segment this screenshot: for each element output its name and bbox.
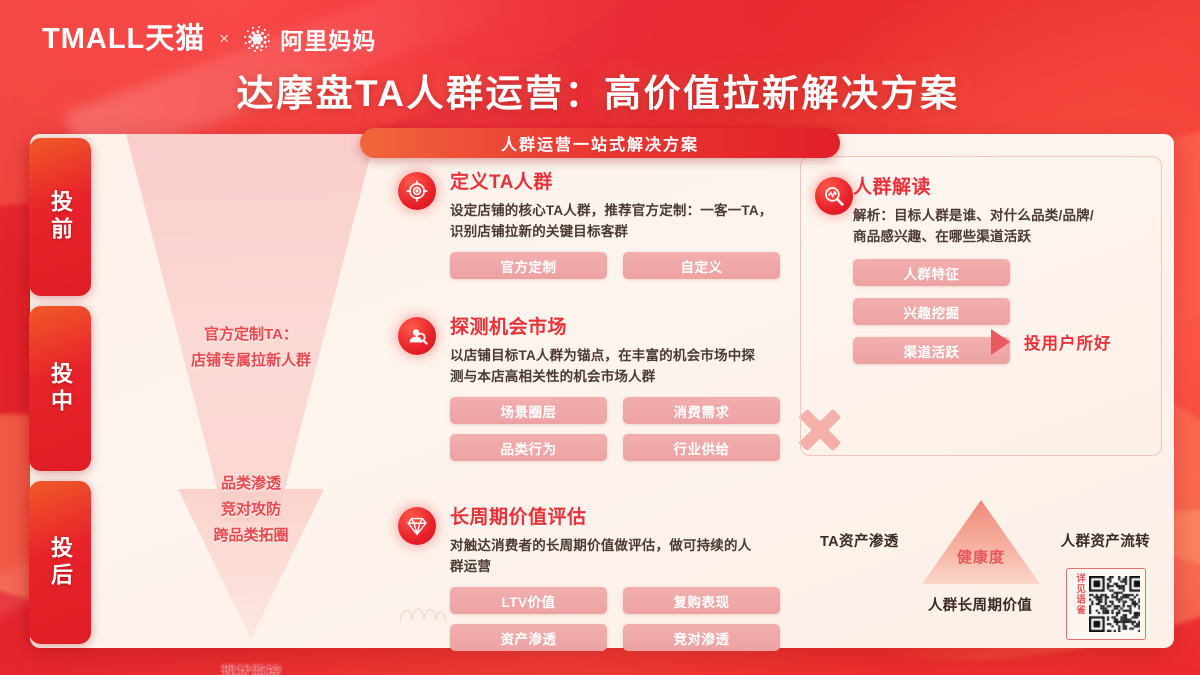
target-crosshair-icon xyxy=(398,172,436,210)
tag-consumption-demand[interactable]: 消费需求 xyxy=(623,397,780,424)
funnel-label-stage2-line1: 品类渗透 xyxy=(126,471,376,497)
alimama-logo-text: 阿里妈妈 xyxy=(280,22,376,56)
card-audience-insight-tags: 人群特征 兴趣挖掘 渠道活跃 xyxy=(853,259,1010,364)
audience-search-icon xyxy=(398,317,436,355)
qr-code-box[interactable]: 详见语雀 xyxy=(1066,568,1146,640)
play-triangle-icon xyxy=(991,329,1010,355)
health-left-label: TA资产渗透 xyxy=(820,530,899,551)
card-explore-market-desc-line1: 以店铺目标TA人群为锚点，在丰富的机会市场中探 xyxy=(450,345,788,366)
solution-banner-label: 人群运营一站式解决方案 xyxy=(501,131,699,155)
page-title: 达摩盘TA人群运营：高价值拉新解决方案 xyxy=(0,63,1200,117)
card-explore-market-desc-line2: 测与本店高相关性的机会市场人群 xyxy=(450,366,788,387)
card-audience-insight-desc-line2: 商品感兴趣、在哪些渠道活跃 xyxy=(853,226,1153,247)
card-explore-market-desc: 以店铺目标TA人群为锚点，在丰富的机会市场中探 测与本店高相关性的机会市场人群 xyxy=(450,345,788,387)
tag-asset-penetration[interactable]: 资产渗透 xyxy=(450,624,607,651)
health-bottom-label: 人群长周期价值 xyxy=(928,594,1032,615)
audience-insight-panel: 人群解读 解析：目标人群是谁、对什么品类/品牌/ 商品感兴趣、在哪些渠道活跃 人… xyxy=(800,156,1162,456)
tmall-logo: TMALL天猫 xyxy=(42,25,205,54)
card-define-ta-title: 定义TA人群 xyxy=(450,170,788,196)
tag-scene-layer[interactable]: 场景圈层 xyxy=(450,397,607,424)
decorative-flourish-icon xyxy=(396,600,450,626)
funnel-label-stage3-line1: 现状监控 xyxy=(126,659,376,675)
alimama-mark-icon xyxy=(243,25,271,53)
user-preference-callout: 投用户所好 xyxy=(991,329,1112,355)
card-explore-market-tags: 场景圈层 消费需求 品类行为 行业供给 xyxy=(450,397,780,461)
card-explore-market-title: 探测机会市场 xyxy=(450,315,788,341)
card-define-ta[interactable]: 定义TA人群 设定店铺的核心TA人群，推荐官方定制：一客一TA， 识别店铺拉新的… xyxy=(398,170,788,279)
tag-self-defined[interactable]: 自定义 xyxy=(623,252,780,279)
diamond-icon xyxy=(398,507,436,545)
tag-audience-profile[interactable]: 人群特征 xyxy=(853,259,1010,286)
funnel-label-stage1-line2: 店铺专属拉新人群 xyxy=(126,348,376,374)
card-lifecycle-value-title: 长周期价值评估 xyxy=(450,505,788,531)
card-define-ta-desc-line1: 设定店铺的核心TA人群，推荐官方定制：一客一TA， xyxy=(450,200,788,221)
user-preference-label: 投用户所好 xyxy=(1024,330,1112,354)
tag-industry-supply[interactable]: 行业供给 xyxy=(623,434,780,461)
stage-tab-during-label: 投中 xyxy=(44,362,76,416)
card-lifecycle-value-desc: 对触达消费者的长周期价值做评估，做可持续的人 群运营 xyxy=(450,535,788,577)
stage-tab-pre-label: 投前 xyxy=(44,190,76,244)
page-title-text: 达摩盘TA人群运营：高价值拉新解决方案 xyxy=(236,63,959,117)
funnel-label-stage1: 官方定制TA： 店铺专属拉新人群 xyxy=(126,322,376,374)
card-define-ta-desc: 设定店铺的核心TA人群，推荐官方定制：一客一TA， 识别店铺拉新的关键目标客群 xyxy=(450,200,788,242)
card-lifecycle-value[interactable]: 长周期价值评估 对触达消费者的长周期价值做评估，做可持续的人 群运营 LTV价值… xyxy=(398,505,788,651)
card-define-ta-tags: 官方定制 自定义 xyxy=(450,252,780,279)
health-right-label: 人群资产流转 xyxy=(1061,530,1150,551)
tag-competitor-penetration[interactable]: 竞对渗透 xyxy=(623,624,780,651)
tag-category-behavior[interactable]: 品类行为 xyxy=(450,434,607,461)
stage-tabs: 投前 投中 投后 xyxy=(29,134,91,648)
funnel-cone-shape xyxy=(126,134,376,504)
funnel-label-stage1-line1: 官方定制TA： xyxy=(126,322,376,348)
tag-official-custom[interactable]: 官方定制 xyxy=(450,252,607,279)
stage-tab-pre[interactable]: 投前 xyxy=(29,138,91,296)
funnel-graphic: 官方定制TA： 店铺专属拉新人群 品类渗透 竞对攻防 跨品类拓圈 现状监控 长期… xyxy=(126,134,376,648)
card-audience-insight-title: 人群解读 xyxy=(853,175,1161,201)
health-triangle-shape xyxy=(922,500,1040,584)
card-explore-market[interactable]: 探测机会市场 以店铺目标TA人群为锚点，在丰富的机会市场中探 测与本店高相关性的… xyxy=(398,315,788,461)
funnel-label-stage2-line2: 竞对攻防 xyxy=(126,497,376,523)
content-board: 投前 投中 投后 官方定制TA： 店铺专属拉新人群 品类渗透 竞对攻防 跨品类拓… xyxy=(30,134,1174,648)
card-audience-insight-desc: 解析：目标人群是谁、对什么品类/品牌/ 商品感兴趣、在哪些渠道活跃 xyxy=(853,205,1153,247)
card-audience-insight-desc-line1: 解析：目标人群是谁、对什么品类/品牌/ xyxy=(853,205,1153,226)
left-content-column: 定义TA人群 设定店铺的核心TA人群，推荐官方定制：一客一TA， 识别店铺拉新的… xyxy=(398,148,788,651)
stage-tab-post[interactable]: 投后 xyxy=(29,481,91,644)
tag-ltv-value[interactable]: LTV价值 xyxy=(450,587,607,614)
logo-separator-icon: × xyxy=(217,29,231,49)
funnel-label-stage2: 品类渗透 竞对攻防 跨品类拓圈 xyxy=(126,471,376,549)
card-lifecycle-value-tags: LTV价值 复购表现 资产渗透 竞对渗透 xyxy=(450,587,780,651)
header: TMALL天猫 × 阿里妈妈 达摩盘TA人群运营：高价值拉新解决方案 xyxy=(0,0,1200,130)
tag-interest-mining[interactable]: 兴趣挖掘 xyxy=(853,298,1010,325)
card-lifecycle-value-desc-line1: 对触达消费者的长周期价值做评估，做可持续的人 xyxy=(450,535,788,556)
logo-lockup: TMALL天猫 × 阿里妈妈 xyxy=(42,22,376,56)
qr-code-image xyxy=(1089,576,1140,632)
stage-tab-post-label: 投后 xyxy=(44,536,76,590)
tag-channel-activity[interactable]: 渠道活跃 xyxy=(853,337,1010,364)
health-center-label: 健康度 xyxy=(922,546,1040,567)
card-lifecycle-value-desc-line2: 群运营 xyxy=(450,556,788,577)
qr-caption: 详见语雀 xyxy=(1072,573,1086,635)
funnel-label-stage2-line3: 跨品类拓圈 xyxy=(126,523,376,549)
tag-repurchase[interactable]: 复购表现 xyxy=(623,587,780,614)
funnel-label-stage3: 现状监控 长期价值 xyxy=(126,659,376,675)
stage-tab-during[interactable]: 投中 xyxy=(29,306,91,471)
solution-banner: 人群运营一站式解决方案 xyxy=(360,128,840,158)
alimama-logo: 阿里妈妈 xyxy=(243,22,376,56)
card-define-ta-desc-line2: 识别店铺拉新的关键目标客群 xyxy=(450,221,788,242)
magnifier-analytics-icon xyxy=(815,177,853,215)
